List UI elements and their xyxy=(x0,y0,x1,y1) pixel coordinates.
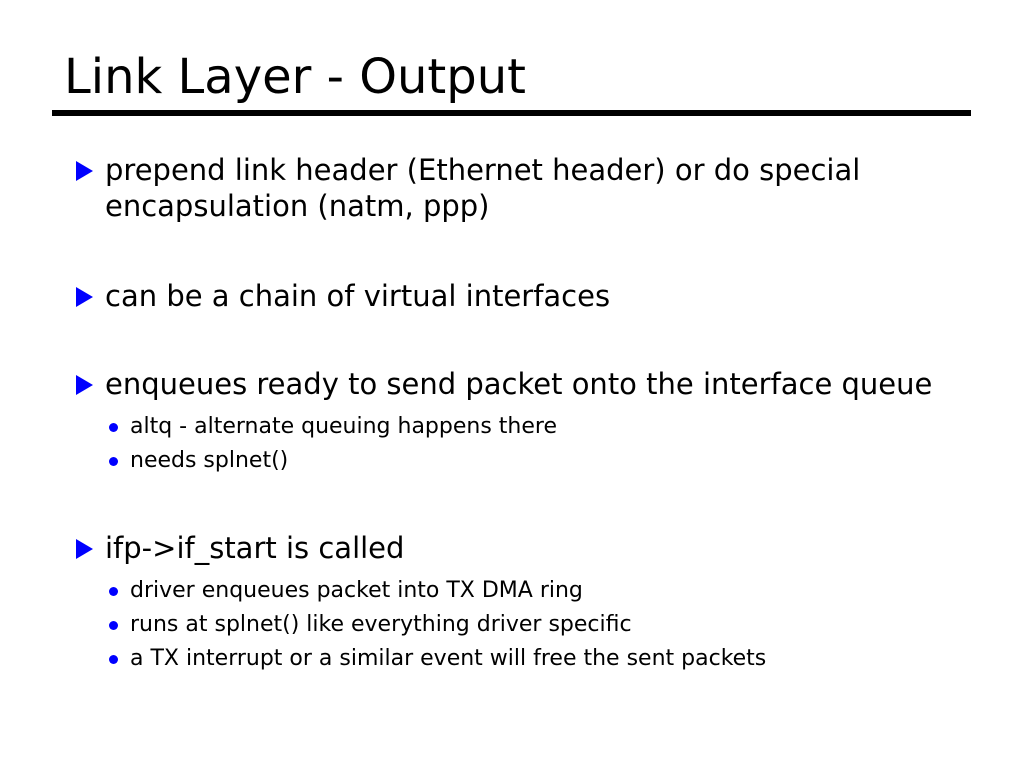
sub-bullet-text: needs splnet() xyxy=(130,444,994,478)
sub-bullet-item: runs at splnet() like everything driver … xyxy=(0,608,1024,642)
page-title: Link Layer - Output xyxy=(52,48,972,106)
bullet-item: can be a chain of virtual interfaces xyxy=(0,278,1024,314)
bullet-item: ifp->if_start is called xyxy=(0,530,1024,566)
bullet-text: enqueues ready to send packet onto the i… xyxy=(105,366,984,402)
bullet-text: prepend link header (Ethernet header) or… xyxy=(105,152,984,224)
slide-body: prepend link header (Ethernet header) or… xyxy=(0,152,1024,676)
sub-bullet-text: a TX interrupt or a similar event will f… xyxy=(130,642,994,676)
sub-bullet-text: driver enqueues packet into TX DMA ring xyxy=(130,574,994,608)
sub-bullet-item: altq - alternate queuing happens there xyxy=(0,410,1024,444)
sub-bullet-item: needs splnet() xyxy=(0,444,1024,478)
spacer xyxy=(0,402,1024,410)
sub-bullet-text: altq - alternate queuing happens there xyxy=(130,410,994,444)
bullet-text: ifp->if_start is called xyxy=(105,530,984,566)
sub-bullet-item: driver enqueues packet into TX DMA ring xyxy=(0,574,1024,608)
triangle-right-icon xyxy=(76,539,93,559)
spacer xyxy=(0,314,1024,366)
dot-icon xyxy=(109,655,118,664)
dot-icon xyxy=(109,457,118,466)
spacer xyxy=(0,566,1024,574)
slide: Link Layer - Output prepend link header … xyxy=(0,0,1024,768)
triangle-right-icon xyxy=(76,375,93,395)
bullet-text: can be a chain of virtual interfaces xyxy=(105,278,984,314)
spacer xyxy=(0,478,1024,530)
bullet-list: prepend link header (Ethernet header) or… xyxy=(0,152,1024,676)
dot-icon xyxy=(109,587,118,596)
dot-icon xyxy=(109,423,118,432)
triangle-right-icon xyxy=(76,287,93,307)
sub-bullet-text: runs at splnet() like everything driver … xyxy=(130,608,994,642)
spacer xyxy=(0,224,1024,278)
triangle-right-icon xyxy=(76,161,93,181)
dot-icon xyxy=(109,621,118,630)
title-block: Link Layer - Output xyxy=(52,48,972,116)
bullet-item: prepend link header (Ethernet header) or… xyxy=(0,152,1024,224)
sub-bullet-item: a TX interrupt or a similar event will f… xyxy=(0,642,1024,676)
bullet-item: enqueues ready to send packet onto the i… xyxy=(0,366,1024,402)
title-underline-rule xyxy=(52,110,971,116)
